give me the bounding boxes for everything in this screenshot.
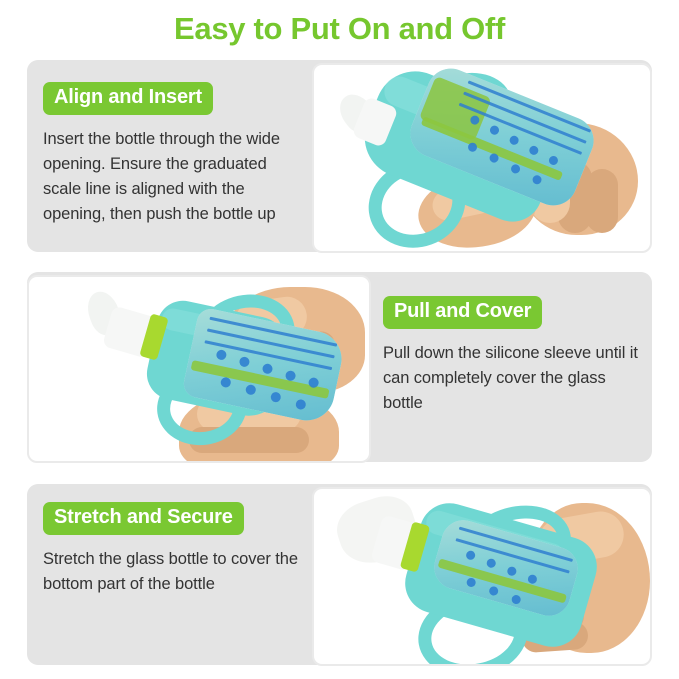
finger-shape xyxy=(586,169,618,233)
step-1-text-block: Align and Insert Insert the bottle throu… xyxy=(43,82,305,227)
step-3-badge: Stretch and Secure xyxy=(43,502,244,535)
step-3-photo xyxy=(312,487,652,666)
step-2-photo xyxy=(27,275,371,463)
product-illustration-2 xyxy=(29,277,369,461)
step-2-text-block: Pull and Cover Pull down the silicone sl… xyxy=(383,296,641,416)
step-3-text-block: Stretch and Secure Stretch the glass bot… xyxy=(43,502,311,597)
product-illustration-1 xyxy=(314,65,650,251)
step-1-body: Insert the bottle through the wide openi… xyxy=(43,127,305,227)
step-1-badge: Align and Insert xyxy=(43,82,213,115)
step-card-2: Pull and Cover Pull down the silicone sl… xyxy=(27,272,652,462)
step-2-body: Pull down the silicone sleeve until it c… xyxy=(383,341,641,416)
page-title: Easy to Put On and Off xyxy=(0,11,679,47)
step-card-3: Stretch and Secure Stretch the glass bot… xyxy=(27,484,652,665)
step-card-1: Align and Insert Insert the bottle throu… xyxy=(27,60,652,252)
step-1-photo xyxy=(312,63,652,253)
infographic-page: Easy to Put On and Off Align and Insert … xyxy=(0,0,679,679)
product-illustration-3 xyxy=(314,489,650,664)
step-2-badge: Pull and Cover xyxy=(383,296,542,329)
step-3-body: Stretch the glass bottle to cover the bo… xyxy=(43,547,311,597)
